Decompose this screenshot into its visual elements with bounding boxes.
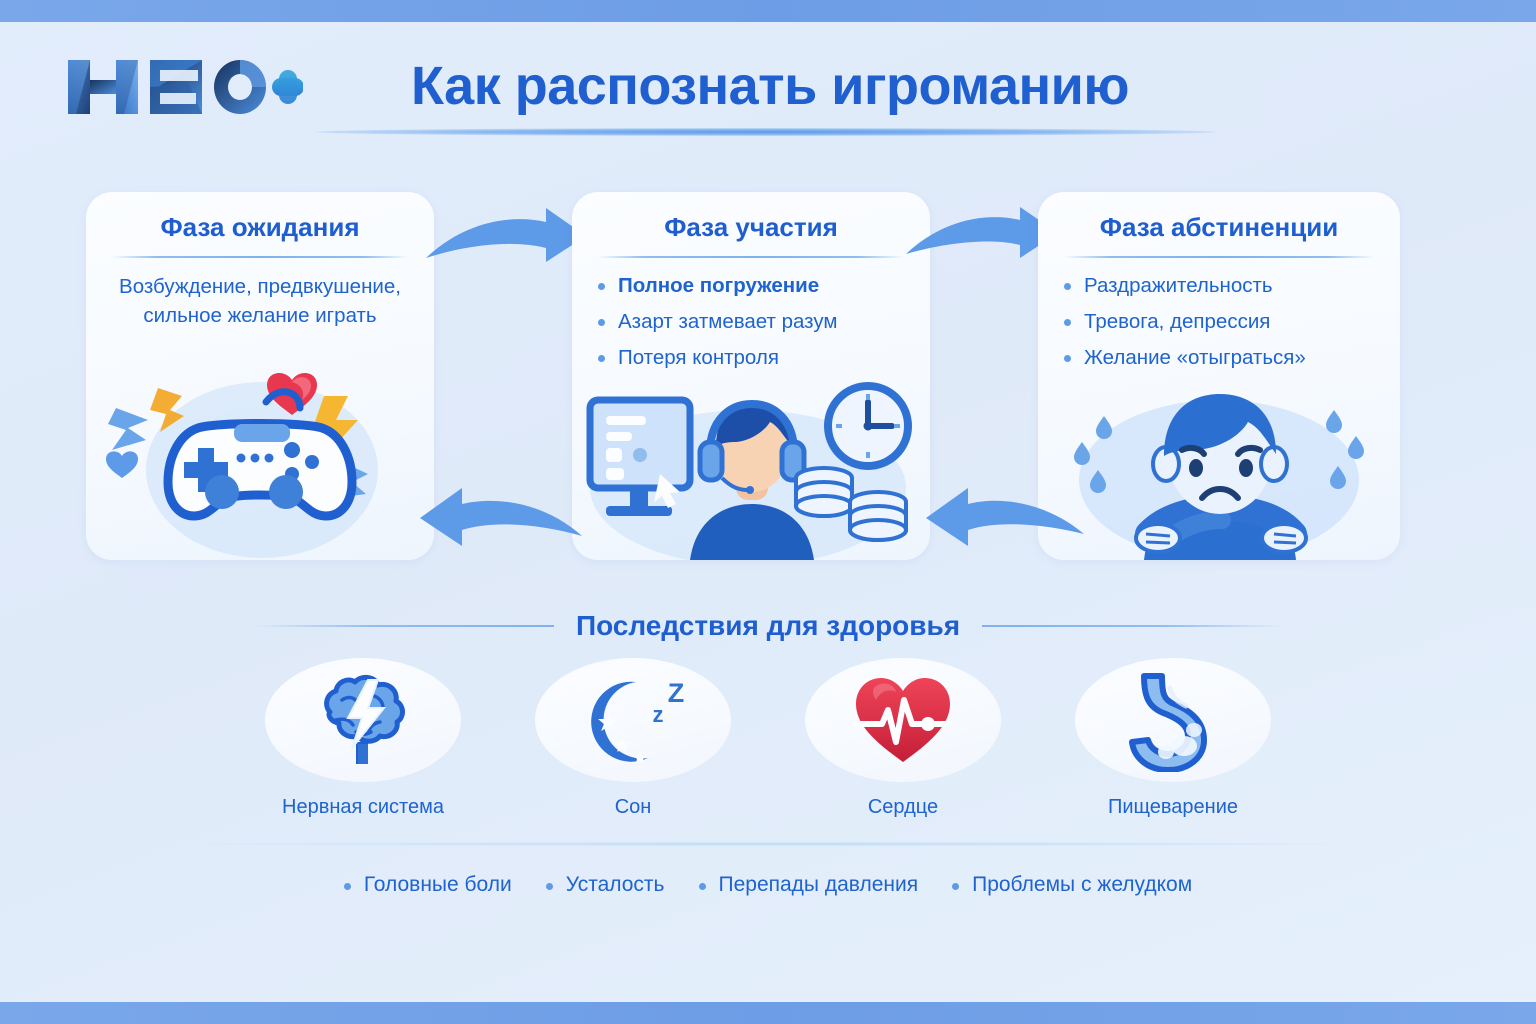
brand-logo bbox=[38, 42, 303, 120]
health-item-heart[interactable]: Сердце bbox=[795, 658, 1011, 819]
symptoms-row: Головные боли Усталость Перепады давлени… bbox=[0, 862, 1536, 908]
consequences-section-header: Последствия для здоровья bbox=[0, 604, 1536, 648]
list-item: Потеря контроля bbox=[598, 344, 920, 371]
symptom-item: Проблемы с желудком bbox=[952, 873, 1192, 897]
phase-bullet-list: Полное погружение Азарт затмевает разум … bbox=[572, 272, 930, 371]
svg-text:z: z bbox=[653, 702, 664, 727]
arrow-left-phase2-to-phase1 bbox=[412, 478, 594, 557]
section-rule-right bbox=[982, 625, 1282, 627]
gamepad-heart-illustration bbox=[86, 358, 434, 558]
arrow-right-phase1-to-phase2 bbox=[414, 200, 594, 275]
health-item-sleep[interactable]: Z z Сон bbox=[525, 658, 741, 819]
health-item-label: Сон bbox=[615, 796, 652, 819]
gamer-monitor-clock-coins-illustration bbox=[572, 380, 930, 560]
svg-text:Z: Z bbox=[668, 678, 685, 708]
symptoms-divider bbox=[198, 842, 1338, 846]
symptom-item: Перепады давления bbox=[699, 873, 919, 897]
phase-card-title: Фаза ожидания bbox=[86, 212, 434, 243]
health-item-label: Нервная система bbox=[282, 796, 444, 819]
symptom-item: Головные боли bbox=[344, 873, 512, 897]
infographic-canvas: Как распознать игроманию Фаза ожидания В… bbox=[0, 0, 1536, 1024]
health-item-label: Сердце bbox=[868, 796, 938, 819]
phase-description: Возбуждение, предвкушение, сильное желан… bbox=[86, 272, 434, 330]
phase-card-title: Фаза абстиненции bbox=[1038, 212, 1400, 243]
section-title: Последствия для здоровья bbox=[576, 610, 960, 642]
health-icon-row: Нервная система Z z Сон bbox=[0, 658, 1536, 819]
card-divider bbox=[1064, 256, 1374, 258]
health-item-digestion[interactable]: Пищеварение bbox=[1065, 658, 1281, 819]
list-item: Желание «отыграться» bbox=[1064, 344, 1390, 371]
top-edge-band bbox=[0, 0, 1536, 22]
moon-zzz-icon: Z z bbox=[535, 658, 731, 782]
section-rule-left bbox=[254, 625, 554, 627]
arrow-left-phase3-to-phase2 bbox=[918, 478, 1094, 555]
list-item: Тревога, депрессия bbox=[1064, 308, 1390, 335]
heart-ecg-icon bbox=[805, 658, 1001, 782]
list-item: Раздражительность bbox=[1064, 272, 1390, 299]
list-item: Полное погружение bbox=[598, 272, 920, 299]
card-divider bbox=[112, 256, 408, 258]
title-underline bbox=[315, 128, 1215, 136]
symptom-item: Усталость bbox=[546, 873, 665, 897]
page-title: Как распознать игроманию bbox=[330, 46, 1210, 126]
bottom-edge-band bbox=[0, 1002, 1536, 1024]
list-item: Азарт затмевает разум bbox=[598, 308, 920, 335]
phase-card-title: Фаза участия bbox=[572, 212, 930, 243]
brain-lightning-icon bbox=[265, 658, 461, 782]
phase-bullet-list: Раздражительность Тревога, депрессия Жел… bbox=[1038, 272, 1400, 371]
health-item-nervous-system[interactable]: Нервная система bbox=[255, 658, 471, 819]
health-item-label: Пищеварение bbox=[1108, 796, 1238, 819]
stomach-icon bbox=[1075, 658, 1271, 782]
phase-card-expectation[interactable]: Фаза ожидания Возбуждение, предвкушение,… bbox=[86, 192, 434, 560]
card-divider bbox=[598, 256, 904, 258]
phase-card-participation[interactable]: Фаза участия Полное погружение Азарт зат… bbox=[572, 192, 930, 560]
